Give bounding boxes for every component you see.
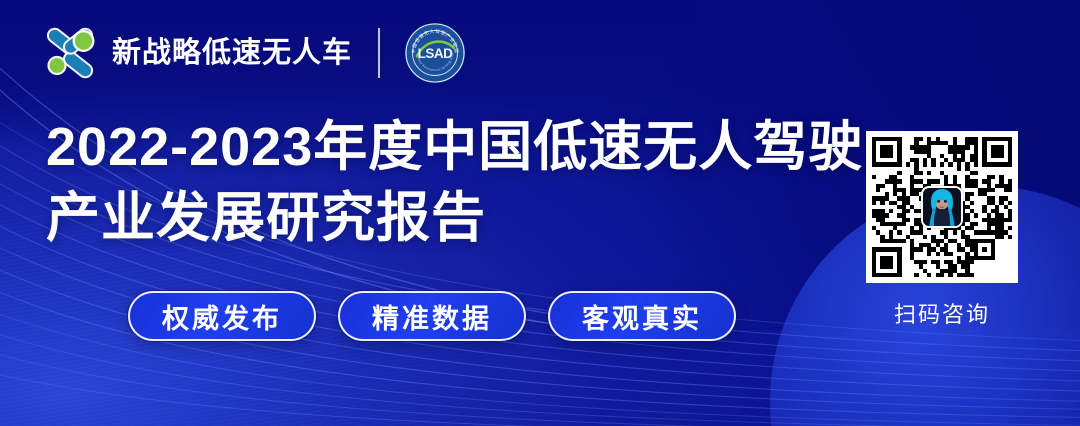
avatar-portrait-icon — [921, 186, 963, 228]
pill-authoritative-release[interactable]: 权威发布 — [128, 291, 316, 341]
pill-objective-truth[interactable]: 客观真实 — [548, 291, 736, 341]
brand-name: 新战略低速无人车 — [112, 39, 352, 68]
banner-title: 2022-2023年度中国低速无人驾驶 产业发展研究报告 — [46, 112, 876, 255]
lsad-circular-seal-icon: 中国低速无人驾驶产业联盟 Low Speed Autonomous Drivin… — [404, 22, 466, 84]
vertical-divider — [378, 28, 380, 78]
svg-text:LSAD: LSAD — [418, 46, 454, 61]
feature-pill-group: 权威发布 精准数据 客观真实 — [128, 291, 736, 341]
promo-banner: 新战略低速无人车 中国低速无人驾驶产业联盟 Low Speed Autonomo… — [0, 0, 1080, 426]
qr-code[interactable] — [866, 131, 1018, 283]
title-line-1: 2022-2023年度中国低速无人驾驶 — [46, 112, 876, 183]
qr-caption: 扫码咨询 — [866, 297, 1018, 329]
molecule-x-logo-icon — [42, 25, 98, 81]
pill-accurate-data[interactable]: 精准数据 — [338, 291, 526, 341]
pill-label: 权威发布 — [162, 297, 282, 336]
pill-label: 精准数据 — [372, 297, 492, 336]
pill-label: 客观真实 — [582, 297, 702, 336]
title-line-2: 产业发展研究报告 — [46, 183, 876, 254]
qr-block: 扫码咨询 — [866, 131, 1018, 329]
banner-header: 新战略低速无人车 中国低速无人驾驶产业联盟 Low Speed Autonomo… — [42, 22, 466, 84]
